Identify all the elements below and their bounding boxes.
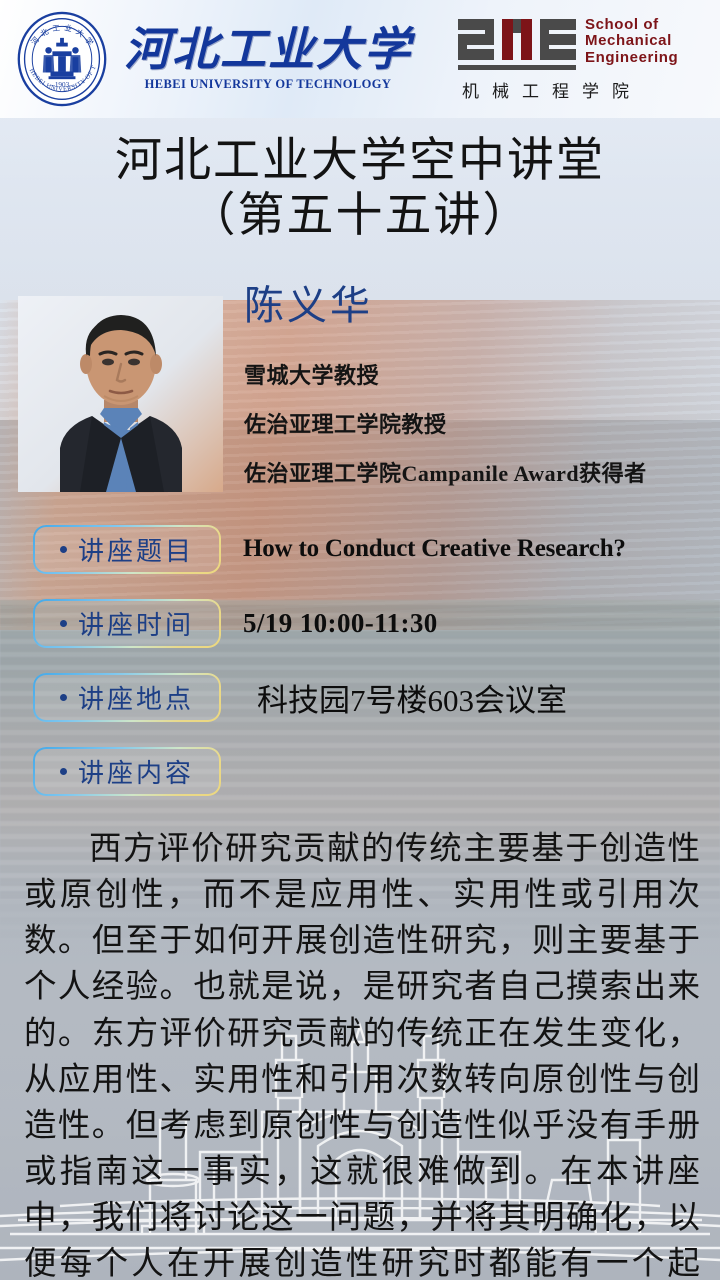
university-name-cn: 河北工业大学 bbox=[124, 26, 412, 74]
sme-name-cn: 机械工程学院 bbox=[458, 77, 678, 102]
credential-item: 雪城大学教授 bbox=[244, 358, 647, 390]
sme-line-3: Engineering bbox=[585, 50, 678, 67]
university-name-en: HEBEI UNIVERSITY OF TECHNOLOGY bbox=[145, 77, 392, 92]
sme-english-name: School of Mechanical Engineering bbox=[585, 17, 678, 68]
info-rows: 讲座题目 How to Conduct Creative Research? 讲… bbox=[0, 524, 720, 820]
poster-title: 河北工业大学空中讲堂 （第五十五讲） bbox=[0, 134, 720, 243]
speaker-portrait-photo bbox=[18, 296, 223, 492]
value-time: 5/19 10:00-11:30 bbox=[243, 608, 438, 639]
bullet-dot-icon bbox=[60, 620, 67, 627]
title-line-2: （第五十五讲） bbox=[0, 189, 720, 244]
poster-header: —1903— HEBEI UNIVERSITY OF TECHNOLOGY 河北… bbox=[0, 0, 720, 118]
info-row-place: 讲座地点 科技园7号楼603会议室 bbox=[0, 672, 720, 722]
speaker-name: 陈义华 bbox=[244, 286, 373, 326]
info-row-content: 讲座内容 bbox=[0, 746, 720, 796]
credential-item: 佐治亚理工学院教授 bbox=[244, 407, 647, 439]
label-content: 讲座内容 bbox=[78, 753, 194, 790]
sme-monogram-icon bbox=[458, 17, 576, 73]
label-pill-topic: 讲座题目 bbox=[33, 525, 221, 574]
label-topic: 讲座题目 bbox=[78, 531, 194, 568]
speaker-credentials: 雪城大学教授 佐治亚理工学院教授 佐治亚理工学院Campanile Award获… bbox=[244, 358, 647, 488]
university-wordmark: 河北工业大学 HEBEI UNIVERSITY OF TECHNOLOGY bbox=[124, 26, 412, 92]
label-place: 讲座地点 bbox=[78, 679, 194, 716]
label-pill-time: 讲座时间 bbox=[33, 599, 221, 648]
value-topic: How to Conduct Creative Research? bbox=[243, 535, 626, 563]
bullet-dot-icon bbox=[60, 546, 67, 553]
credential-item: 佐治亚理工学院Campanile Award获得者 bbox=[244, 456, 647, 488]
label-pill-content: 讲座内容 bbox=[33, 747, 221, 796]
value-place: 科技园7号楼603会议室 bbox=[257, 675, 567, 720]
sme-line-2: Mechanical bbox=[585, 33, 678, 50]
poster-root: —1903— HEBEI UNIVERSITY OF TECHNOLOGY 河北… bbox=[0, 0, 720, 1280]
label-pill-place: 讲座地点 bbox=[33, 673, 221, 722]
title-line-1: 河北工业大学空中讲堂 bbox=[0, 134, 720, 189]
bullet-dot-icon bbox=[60, 694, 67, 701]
info-row-time: 讲座时间 5/19 10:00-11:30 bbox=[0, 598, 720, 648]
info-row-topic: 讲座题目 How to Conduct Creative Research? bbox=[0, 524, 720, 574]
bullet-dot-icon bbox=[60, 768, 67, 775]
university-seal-icon: —1903— HEBEI UNIVERSITY OF TECHNOLOGY 河北… bbox=[14, 11, 110, 107]
lecture-abstract: 西方评价研究贡献的传统主要基于创造性或原创性，而不是应用性、实用性或引用次数。但… bbox=[24, 826, 700, 1280]
label-time: 讲座时间 bbox=[78, 605, 194, 642]
sme-logo: School of Mechanical Engineering 机械工程学院 bbox=[458, 17, 678, 102]
sme-line-1: School of bbox=[585, 17, 678, 34]
